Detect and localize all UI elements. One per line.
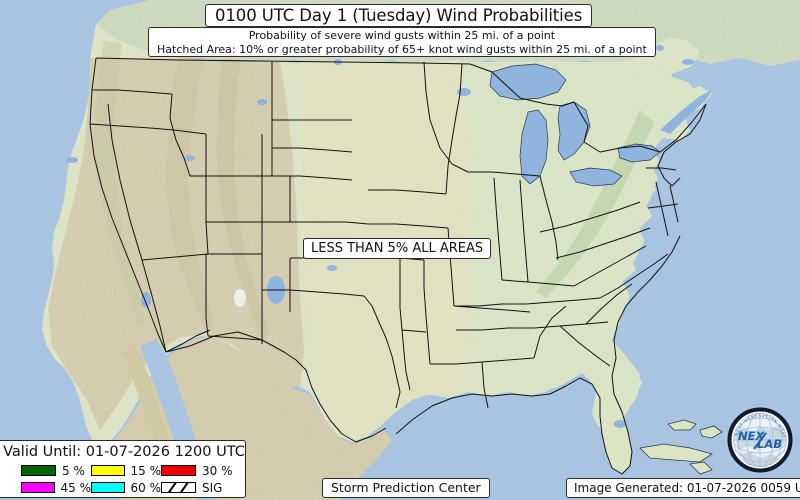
source-attribution: Storm Prediction Center (322, 478, 490, 498)
legend-item-sig: SIG (161, 481, 237, 495)
legend-swatch-grid: 5 % 15 % 30 % 45 % 60 % SIG (0, 462, 245, 496)
legend-label-5: 5 % (62, 464, 85, 478)
legend-item-60: 60 % (91, 481, 161, 495)
legend-label-45: 45 % (61, 481, 92, 495)
legend-label-sig: SIG (202, 481, 222, 495)
swatch-15-percent (91, 465, 125, 476)
legend-label-30: 30 % (202, 464, 233, 478)
legend-item-45: 45 % (21, 481, 91, 495)
probability-legend: Valid Until: 01-07-2026 1200 UTC 5 % 15 … (0, 440, 246, 498)
valid-until-text: Valid Until: 01-07-2026 1200 UTC (0, 443, 245, 462)
image-generated-timestamp: Image Generated: 01-07-2026 0059 UTC (566, 478, 800, 498)
legend-item-5: 5 % (21, 464, 91, 478)
legend-label-60: 60 % (131, 481, 162, 495)
spc-wind-probability-map: 0100 UTC Day 1 (Tuesday) Wind Probabilit… (0, 0, 800, 500)
legend-item-30: 30 % (161, 464, 237, 478)
swatch-30-percent (161, 465, 196, 476)
swatch-60-percent (91, 482, 125, 493)
swatch-5-percent (21, 465, 56, 476)
legend-item-15: 15 % (91, 464, 161, 478)
no-risk-message: LESS THAN 5% ALL AREAS (303, 238, 491, 259)
swatch-45-percent (21, 482, 55, 493)
subtitle-line-2: Hatched Area: 10% or greater probability… (157, 43, 647, 57)
subtitle-line-1: Probability of severe wind gusts within … (157, 29, 647, 43)
legend-label-15: 15 % (131, 464, 162, 478)
subtitle-box: Probability of severe wind gusts within … (148, 27, 656, 57)
page-title: 0100 UTC Day 1 (Tuesday) Wind Probabilit… (205, 4, 592, 27)
swatch-significant-hatched (161, 482, 196, 493)
nexlab-logo: NEXT GENERATION WEATHER LAB NEX LAB (724, 404, 796, 476)
